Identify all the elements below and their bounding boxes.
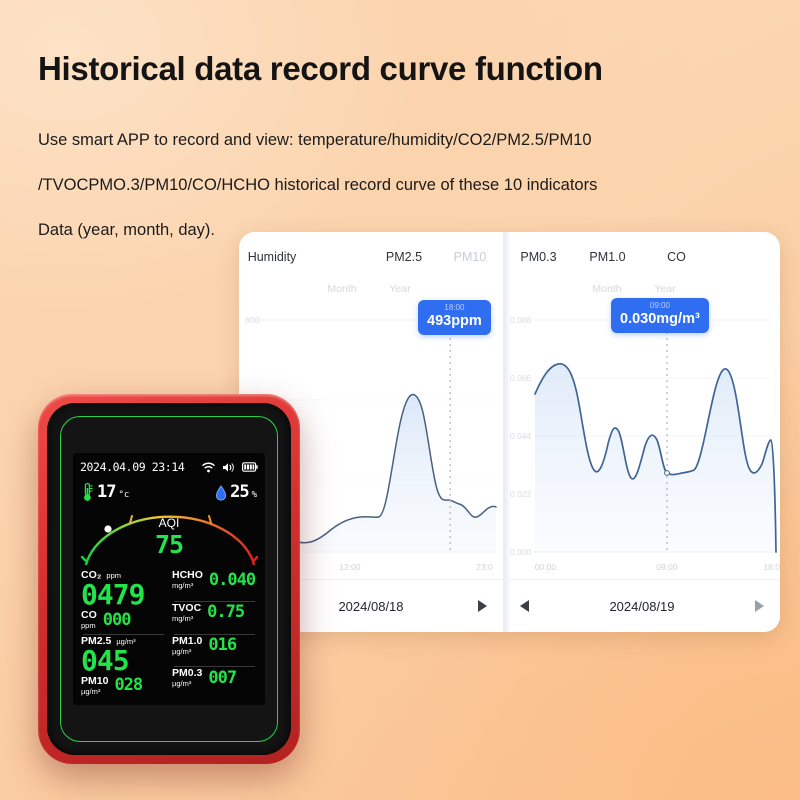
tab-co-label: CO — [667, 250, 686, 264]
hcho-plot[interactable]: 0.088 0.066 0.044 0.022 0.000 00:00 09:0… — [504, 304, 780, 576]
tab-pm10-right-label: PM1.0 — [589, 250, 625, 264]
wifi-icon — [202, 462, 215, 473]
reading-hcho: HCHO mg/m³ 0.040 — [172, 569, 257, 601]
pm10-label-group: PM10 µg/m³ — [81, 675, 108, 696]
pm10-row: PM10 µg/m³ 028 — [81, 675, 166, 696]
aqi-value: 75 — [155, 530, 183, 559]
co-label: CO — [81, 609, 97, 621]
reading-tvoc: TVOC mg/m³ 0.75 — [172, 602, 257, 634]
app-screenshot: Humidity CO2 PM2.5 PM10 Day Month Year — [239, 232, 780, 632]
device-screen: 2024.04.09 23:14 — [73, 453, 265, 705]
range-month-right-label: Month — [592, 283, 621, 295]
tab-hcho-label: HCHO — [727, 250, 764, 264]
pm1-label: PM1.0 — [172, 635, 202, 647]
hcho-xtick-2: 18:0 — [763, 562, 780, 572]
pm1-unit: µg/m³ — [172, 647, 202, 656]
hcho-ytick-3: 0.022 — [510, 489, 531, 499]
range-month[interactable]: Month — [313, 279, 371, 299]
co2-date-label: 2024/08/18 — [338, 599, 403, 614]
co2-tooltip-time: 18:00 — [427, 303, 482, 313]
co2-xtick-0: 12:00 — [339, 562, 360, 572]
reading-pm1: PM1.0 µg/m³ 016 — [172, 635, 257, 667]
tvoc-label-group: TVOC mg/m³ — [172, 602, 201, 623]
hcho-xtick-1: 09:00 — [656, 562, 677, 572]
device-status-icons — [202, 462, 258, 473]
speaker-icon — [222, 462, 235, 473]
hcho-value: 0.040 — [209, 571, 255, 589]
range-year[interactable]: Year — [371, 279, 429, 299]
pm10-unit: µg/m³ — [81, 687, 108, 696]
hcho-unit: mg/m³ — [172, 581, 203, 590]
reading-pm25: PM2.5 µg/m³ 045 — [81, 635, 166, 675]
pm03-label-group: PM0.3 µg/m³ — [172, 667, 202, 688]
pm03-row: PM0.3 µg/m³ 007 — [172, 667, 257, 688]
tvoc-value: 0.75 — [207, 603, 244, 621]
aqi-label: AQI — [159, 516, 180, 530]
tab-pm03-label: PM0.3 — [520, 250, 556, 264]
range-year-label: Year — [389, 283, 410, 295]
range-day-label: Day — [275, 283, 294, 295]
tvoc-unit: mg/m³ — [172, 614, 201, 623]
aqi-gauge: AQI 75 — [73, 499, 265, 565]
device-bezel: 2024.04.09 23:14 — [47, 403, 291, 755]
hcho-range-selector: Day Month Year — [520, 278, 694, 300]
pm10-value: 028 — [114, 676, 142, 694]
hcho-panel: PM0.3 PM1.0 CO HCHO Day Month Year — [504, 232, 780, 632]
tab-pm03[interactable]: PM0.3 — [504, 245, 573, 269]
range-day[interactable]: Day — [255, 279, 313, 299]
tab-humidity[interactable]: Humidity — [239, 245, 305, 269]
hcho-tab-bar: PM0.3 PM1.0 CO HCHO — [504, 244, 780, 270]
hcho-next-day-button[interactable] — [755, 600, 764, 612]
device-readings-grid: CO₂ ppm 0479 CO ppm — [81, 569, 257, 699]
hcho-tooltip-value: 0.030mg/m³ — [620, 311, 700, 328]
reading-co2: CO₂ ppm 0479 — [81, 569, 166, 609]
co2-ytick-0: 600 — [245, 315, 259, 325]
range-year-right[interactable]: Year — [636, 279, 694, 299]
readings-column-left: CO₂ ppm 0479 CO ppm — [81, 569, 166, 699]
hcho-label-group: HCHO mg/m³ — [172, 569, 203, 590]
tab-co[interactable]: CO — [642, 245, 711, 269]
pm1-value: 016 — [208, 636, 236, 654]
co-label-group: CO ppm — [81, 609, 97, 630]
range-month-label: Month — [327, 283, 356, 295]
co2-tooltip-value: 493ppm — [427, 313, 482, 330]
hcho-ytick-4: 0.000 — [510, 547, 531, 557]
range-day-right-label: Day — [540, 283, 559, 295]
hcho-label: HCHO — [172, 569, 203, 581]
hcho-svg — [504, 304, 780, 576]
tab-pm10-label: PM10 — [454, 250, 487, 264]
pm1-label-group: PM1.0 µg/m³ — [172, 635, 202, 656]
pm1-row: PM1.0 µg/m³ 016 — [172, 635, 257, 656]
device-datetime: 2024.04.09 23:14 — [80, 460, 184, 474]
co2-next-day-button[interactable] — [478, 600, 487, 612]
hcho-date-bar: 2024/08/19 — [504, 579, 780, 632]
hcho-xtick-0: 00:00 — [535, 562, 556, 572]
tvoc-row: TVOC mg/m³ 0.75 — [172, 602, 257, 623]
co2-value: 0479 — [81, 581, 166, 609]
range-year-right-label: Year — [654, 283, 675, 295]
tab-pm25[interactable]: PM2.5 — [371, 245, 437, 269]
tab-humidity-label: Humidity — [248, 250, 297, 264]
pm03-unit: µg/m³ — [172, 679, 202, 688]
co2-tab-bar: Humidity CO2 PM2.5 PM10 — [239, 244, 503, 270]
pm03-label: PM0.3 — [172, 667, 202, 679]
reading-pm03: PM0.3 µg/m³ 007 — [172, 667, 257, 699]
tvoc-label: TVOC — [172, 602, 201, 614]
description-line-1: Use smart APP to record and view: temper… — [38, 118, 718, 163]
tab-pm10[interactable]: PM10 — [437, 245, 503, 269]
pm03-value: 007 — [208, 669, 236, 687]
pm10-label: PM10 — [81, 675, 108, 687]
range-day-right[interactable]: Day — [520, 279, 578, 299]
tab-pm25-label: PM2.5 — [386, 250, 422, 264]
range-month-right[interactable]: Month — [578, 279, 636, 299]
co2-tooltip: 18:00 493ppm — [418, 300, 491, 335]
reading-pm10: PM10 µg/m³ 028 — [81, 675, 166, 700]
hcho-ytick-0: 0.088 — [510, 315, 531, 325]
readings-column-right: HCHO mg/m³ 0.040 TVOC — [166, 569, 257, 699]
hcho-ytick-2: 0.044 — [510, 431, 531, 441]
air-quality-monitor-device: 2024.04.09 23:14 — [38, 394, 300, 764]
hcho-prev-day-button[interactable] — [520, 600, 529, 612]
co2-xtick-1: 23:0 — [476, 562, 493, 572]
tab-pm10-right[interactable]: PM1.0 — [573, 245, 642, 269]
hcho-tooltip-time: 09:00 — [620, 301, 700, 311]
co-value: 000 — [103, 611, 131, 629]
tab-co2[interactable]: CO2 — [305, 245, 371, 269]
co-unit: ppm — [81, 621, 97, 630]
device-green-frame: 2024.04.09 23:14 — [60, 416, 278, 742]
co-row: CO ppm 000 — [81, 609, 166, 630]
tab-hcho[interactable]: HCHO — [711, 245, 780, 269]
device-status-bar: 2024.04.09 23:14 — [80, 459, 258, 475]
battery-icon — [242, 462, 258, 472]
pm25-value: 045 — [81, 647, 166, 675]
page-title: Historical data record curve function — [38, 50, 603, 88]
hcho-date-label: 2024/08/19 — [609, 599, 674, 614]
hcho-tooltip: 09:00 0.030mg/m³ — [611, 298, 709, 333]
co2-range-selector: Day Month Year — [255, 278, 429, 300]
hcho-row: HCHO mg/m³ 0.040 — [172, 569, 257, 590]
hcho-ytick-1: 0.066 — [510, 373, 531, 383]
reading-co: CO ppm 000 — [81, 609, 166, 634]
description-line-2: /TVOCPMO.3/PM10/CO/HCHO historical recor… — [38, 163, 718, 208]
tab-co2-label: CO2 — [325, 250, 351, 264]
